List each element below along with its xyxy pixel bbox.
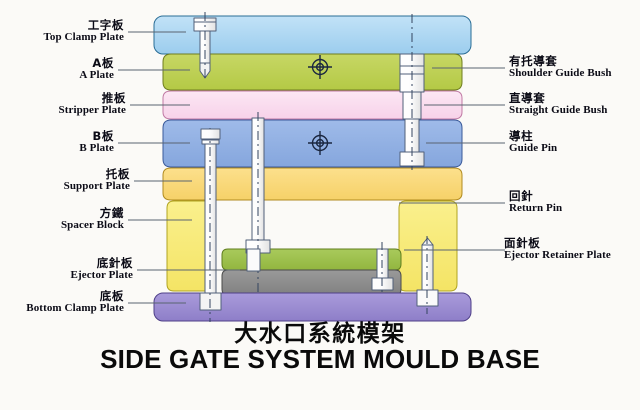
label-en: B Plate <box>0 143 114 154</box>
label-support-plate: 托板 Support Plate <box>0 169 130 192</box>
label-shoulder-guide-bush: 有托導套 Shoulder Guide Bush <box>509 56 640 79</box>
label-en: Bottom Clamp Plate <box>0 303 124 314</box>
label-bottom-clamp-plate: 底板 Bottom Clamp Plate <box>0 291 124 314</box>
label-en: A Plate <box>0 70 114 81</box>
label-en: Top Clamp Plate <box>0 32 124 43</box>
label-en: Guide Pin <box>509 143 640 154</box>
label-top-clamp-plate: 工字板 Top Clamp Plate <box>0 20 124 43</box>
ejector-fixing-screw <box>247 249 260 271</box>
label-en: Ejector Plate <box>0 270 133 281</box>
label-spacer-block: 方鐵 Spacer Block <box>0 208 124 231</box>
label-guide-pin: 導柱 Guide Pin <box>509 131 640 154</box>
diagram-canvas: 工字板 Top Clamp Plate A板 A Plate 推板 Stripp… <box>0 0 640 410</box>
title-chinese: 大水口系統模架 <box>0 314 640 348</box>
label-en: Support Plate <box>0 181 130 192</box>
label-ejector-plate: 底針板 Ejector Plate <box>0 258 133 281</box>
label-ejector-retainer-plate: 面針板 Ejector Retainer Plate <box>504 238 640 261</box>
label-en: Stripper Plate <box>0 105 126 116</box>
label-en: Straight Guide Bush <box>509 105 640 116</box>
label-en: Spacer Block <box>0 220 124 231</box>
label-en: Return Pin <box>509 203 640 214</box>
label-straight-guide-bush: 直導套 Straight Guide Bush <box>509 93 640 116</box>
title-english: SIDE GATE SYSTEM MOULD BASE <box>0 344 640 375</box>
label-en: Shoulder Guide Bush <box>509 68 640 79</box>
label-en: Ejector Retainer Plate <box>504 250 640 261</box>
label-return-pin: 回針 Return Pin <box>509 191 640 214</box>
label-a-plate: A板 A Plate <box>0 58 114 81</box>
label-b-plate: B板 B Plate <box>0 131 114 154</box>
label-stripper-plate: 推板 Stripper Plate <box>0 93 126 116</box>
b-plate-dowel-head <box>201 129 220 139</box>
